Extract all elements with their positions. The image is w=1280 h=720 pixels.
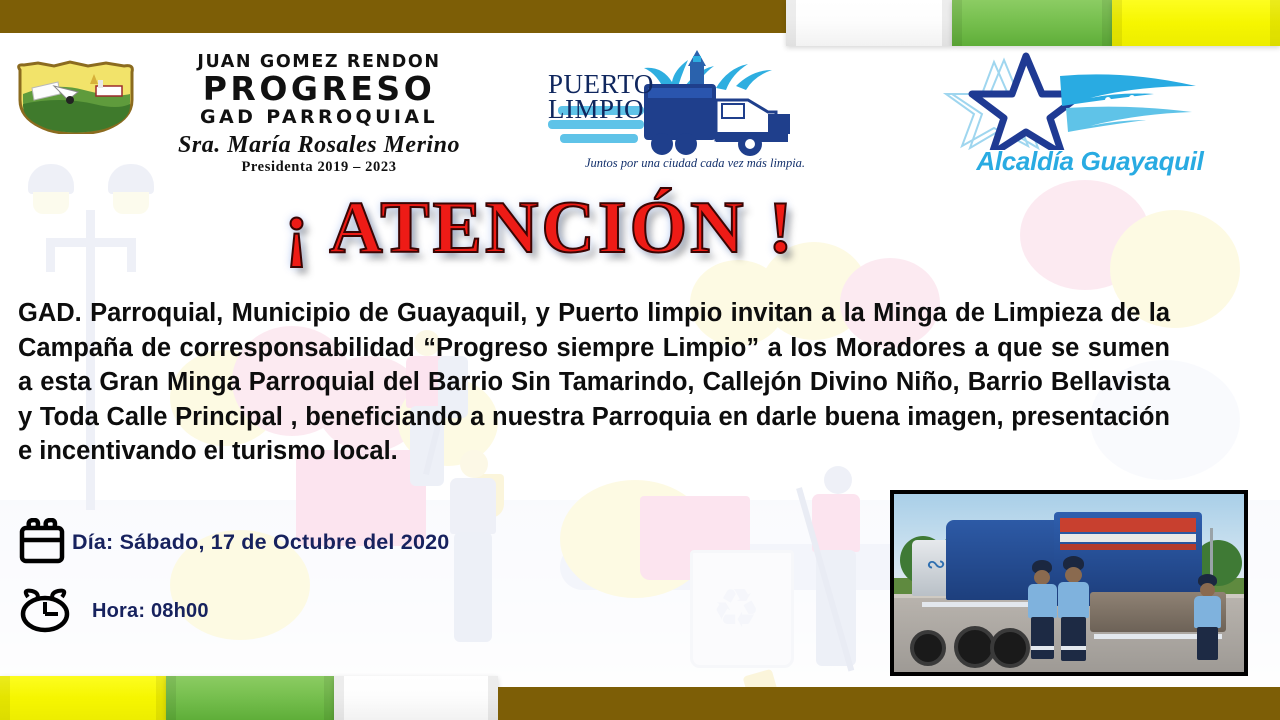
time-label: Hora: 08h00: [92, 600, 209, 623]
gad-line3: GAD PARROQUIAL: [154, 106, 484, 128]
bottom-white-block: [334, 676, 498, 720]
garbage-truck-photo: ∾: [890, 490, 1248, 676]
alcaldia-star-graphic: [940, 50, 1240, 150]
bottom-green-block: [166, 676, 334, 720]
gad-line2: PROGRESO: [154, 72, 484, 106]
coat-of-arms-icon: [14, 60, 138, 134]
time-row: Hora: 08h00: [18, 588, 209, 634]
logo-alcaldia-guayaquil: Alcaldía Guayaquil: [940, 50, 1240, 180]
gad-president-role: Presidenta 2019 – 2023: [154, 159, 484, 176]
date-row: Día: Sábado, 17 de Octubre del 2020: [18, 518, 449, 566]
recycle-bin-icon: [690, 550, 794, 668]
recycle-symbol-icon: ♻: [712, 582, 760, 636]
announcement-body: GAD. Parroquial, Municipio de Guayaquil,…: [18, 296, 1170, 469]
gad-president-name: Sra. María Rosales Merino: [154, 132, 484, 159]
header-logos: JUAN GOMEZ RENDON PROGRESO GAD PARROQUIA…: [0, 40, 1280, 180]
calendar-icon: [18, 518, 66, 566]
worker-figure: [1028, 560, 1058, 660]
worker-figure: [1058, 556, 1090, 662]
page-title: ¡ ATENCIÓN !: [0, 186, 1080, 271]
logo-gad-parroquial: JUAN GOMEZ RENDON PROGRESO GAD PARROQUIA…: [14, 52, 324, 174]
bottom-yellow-block: [0, 676, 166, 720]
puerto-limpio-slogan: Juntos por una ciudad cada vez más limpi…: [550, 156, 840, 171]
logo-puerto-limpio: PUERTO LIMPIO Juntos por una ciudad cada…: [540, 48, 840, 176]
limpio-word: LIMPIO: [548, 97, 654, 122]
bottom-brown-bar: [498, 687, 1280, 720]
gad-text-block: JUAN GOMEZ RENDON PROGRESO GAD PARROQUIA…: [154, 52, 484, 176]
poster-canvas: ♻: [0, 0, 1280, 720]
alarm-clock-icon: [18, 588, 74, 634]
top-brown-bar: [0, 0, 786, 33]
puerto-limpio-wordmark: PUERTO LIMPIO: [548, 72, 654, 123]
tree-icon: [560, 480, 710, 598]
worker-figure: [1194, 574, 1222, 660]
alcaldia-wordmark: Alcaldía Guayaquil: [940, 146, 1240, 177]
date-label: Día: Sábado, 17 de Octubre del 2020: [72, 530, 449, 555]
waste-bin-icon: [640, 496, 750, 580]
